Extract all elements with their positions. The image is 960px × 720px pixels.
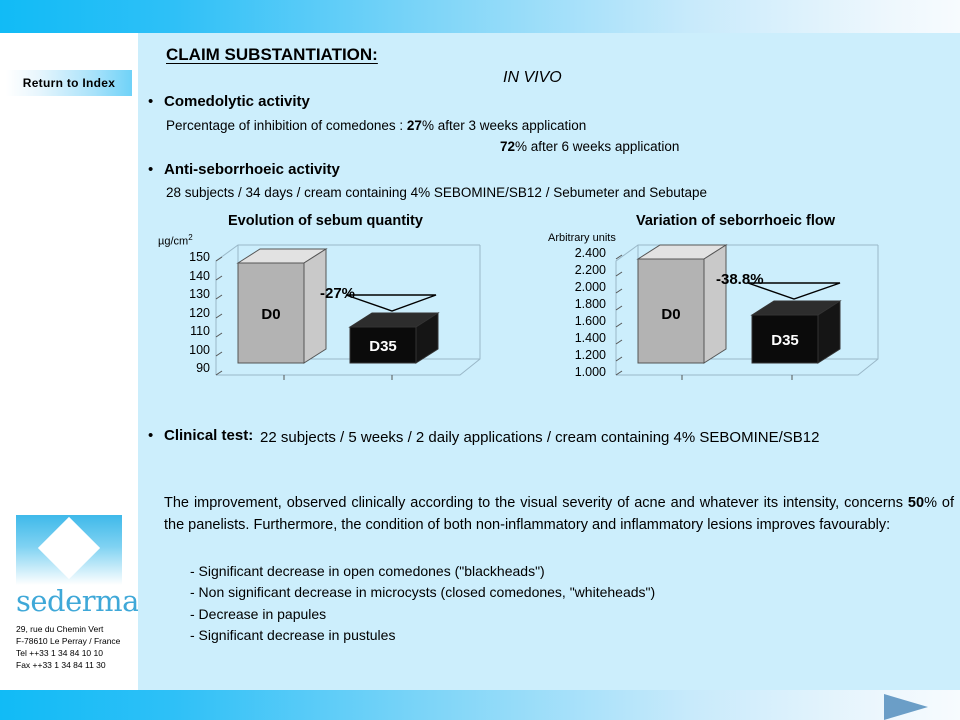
improvement-part1: The improvement, observed clinically acc…: [164, 495, 908, 511]
return-to-index-label: Return to Index: [23, 76, 116, 90]
tick-label: 2.000: [550, 281, 606, 298]
comedolytic-line-2: 72% after 6 weeks application: [500, 139, 679, 154]
improvement-paragraph: The improvement, observed clinically acc…: [164, 493, 954, 537]
chart2-title: Variation of seborrhoeic flow: [636, 213, 835, 229]
list-item: - Non significant decrease in microcysts…: [190, 582, 655, 603]
comedolytic-label: Percentage of inhibition of comedones :: [166, 118, 407, 133]
tick-label: 2.200: [550, 264, 606, 281]
comedolytic-line-1: Percentage of inhibition of comedones : …: [166, 118, 586, 133]
chart-variation-of-seborrhoeic-flow: Variation of seborrhoeic flow Arbitrary …: [548, 213, 898, 393]
footer-band: [0, 690, 960, 720]
bullet-marker: •: [148, 93, 153, 110]
sederma-wordmark: sederma: [16, 587, 126, 616]
next-slide-arrow-icon[interactable]: [884, 694, 928, 720]
clinical-test-body: 22 subjects / 5 weeks / 2 daily applicat…: [260, 429, 819, 446]
chart2-annotation: -38.8%: [716, 271, 764, 288]
subtitle-in-vivo: IN VIVO: [503, 69, 562, 87]
list-item: - Significant decrease in pustules: [190, 625, 655, 646]
chart1-plot-area: D0 D35: [204, 233, 494, 393]
improvement-percentage: 50: [908, 495, 924, 511]
section-heading-comedolytic: Comedolytic activity: [164, 93, 310, 110]
sederma-diamond-icon: [16, 515, 122, 585]
header-band: [0, 0, 960, 33]
bullet-marker: •: [148, 161, 153, 178]
chart1-bar-label-d0: D0: [261, 306, 280, 323]
tick-label: 1.600: [550, 315, 606, 332]
section-heading-antiseborrhoeic: Anti-seborrhoeic activity: [164, 161, 340, 178]
return-to-index-button[interactable]: Return to Index: [6, 70, 132, 96]
tick-label: 1.400: [550, 332, 606, 349]
company-contact-info: 29, rue du Chemin Vert F-78610 Le Perray…: [16, 623, 126, 671]
antiseborrhoeic-protocol: 28 subjects / 34 days / cream containing…: [166, 185, 707, 200]
comedolytic-rest-6w: % after 6 weeks application: [515, 139, 679, 154]
chart1-title: Evolution of sebum quantity: [228, 213, 423, 229]
chart1-y-axis-label: µg/cm2: [158, 233, 193, 248]
chart1-annotation: -27%: [320, 285, 355, 302]
list-item: - Significant decrease in open comedones…: [190, 561, 655, 582]
bullet-marker: •: [148, 427, 153, 444]
sederma-logo-block: sederma 29, rue du Chemin Vert F-78610 L…: [16, 515, 126, 671]
chart2-y-ticks: 2.400 2.200 2.000 1.800 1.600 1.400 1.20…: [550, 247, 606, 383]
comedolytic-value-3w: 27: [407, 118, 422, 133]
list-item: - Decrease in papules: [190, 604, 655, 625]
clinical-test-paragraph: 22 subjects / 5 weeks / 2 daily applicat…: [164, 427, 954, 449]
chart2-bar-label-d35: D35: [771, 332, 799, 349]
page-title: CLAIM SUBSTANTIATION:: [166, 45, 378, 65]
chart1-bar-label-d35: D35: [369, 338, 397, 355]
tick-label: 1.800: [550, 298, 606, 315]
comedolytic-rest-3w: % after 3 weeks application: [422, 118, 586, 133]
tick-label: 2.400: [550, 247, 606, 264]
tick-label: 1.200: [550, 349, 606, 366]
diamond-shape: [38, 517, 100, 579]
lesion-list: - Significant decrease in open comedones…: [190, 561, 655, 647]
tick-label: 1.000: [550, 366, 606, 383]
slide-content: CLAIM SUBSTANTIATION: IN VIVO • Comedoly…: [138, 33, 960, 690]
chart2-plot-area: D0 D35: [606, 233, 906, 393]
comedolytic-value-6w: 72: [500, 139, 515, 154]
chart-evolution-of-sebum-quantity: Evolution of sebum quantity µg/cm2 150 1…: [158, 213, 488, 393]
chart2-bar-label-d0: D0: [661, 306, 680, 323]
clinical-test-heading: Clinical test:: [164, 427, 253, 444]
